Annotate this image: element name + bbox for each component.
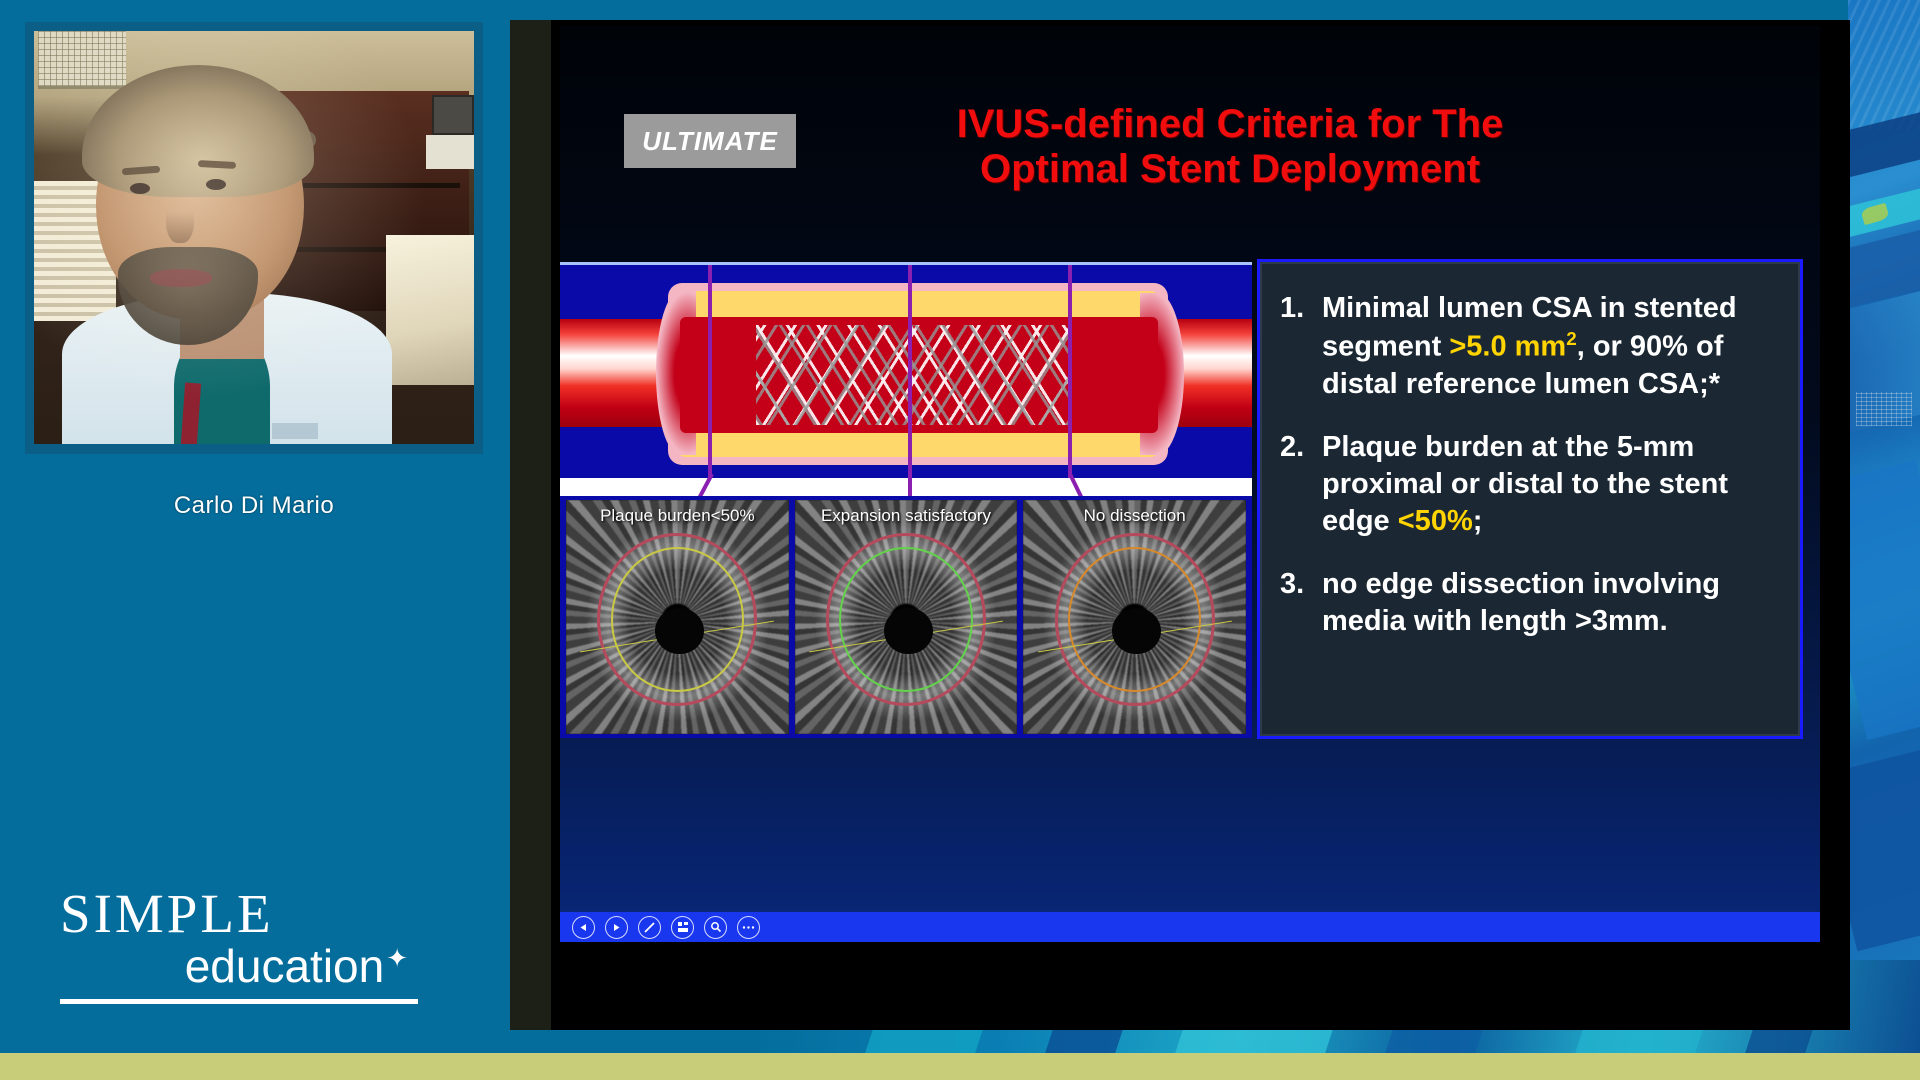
criterion-text-before: no edge dissection involving media with … <box>1322 568 1720 637</box>
criterion-number: 1. <box>1280 290 1322 403</box>
slide-canvas[interactable]: ULTIMATE IVUS-defined Criteria for The O… <box>560 26 1820 936</box>
ultimate-trial-badge: ULTIMATE <box>624 114 796 168</box>
presenter-webcam-panel[interactable] <box>25 22 483 454</box>
ivus-panel: Plaque burden<50% <box>566 500 789 734</box>
triangle-right-icon <box>612 923 621 932</box>
ivus-panel-label: Expansion satisfactory <box>795 506 1018 526</box>
criterion-highlight-superscript: 2 <box>1566 328 1576 349</box>
ultimate-badge-label: ULTIMATE <box>642 126 778 157</box>
stent-illustration <box>560 262 1252 478</box>
criterion-text-after: ; <box>1473 505 1483 537</box>
webcam-video <box>34 31 474 444</box>
ellipsis-icon <box>742 925 755 930</box>
criterion-text: Plaque burden at the 5-mm proximal or di… <box>1322 429 1782 540</box>
ivus-panel-label: No dissection <box>1023 506 1246 526</box>
criterion-highlight: <50% <box>1398 505 1473 537</box>
criterion-text: no edge dissection involving media with … <box>1322 566 1782 640</box>
zoom-button[interactable] <box>704 916 727 939</box>
catheter-core <box>884 608 933 655</box>
criterion-item: 3. no edge dissection involving media wi… <box>1280 566 1782 640</box>
slide-layout-button[interactable] <box>671 916 694 939</box>
criterion-text: Minimal lumen CSA in stented segment >5.… <box>1322 290 1782 403</box>
slide-title-line-1: IVUS-defined Criteria for The <box>810 102 1650 147</box>
triangle-left-icon <box>579 923 588 932</box>
ivus-panel-label: Plaque burden<50% <box>566 506 789 526</box>
callout-line-distal <box>1068 265 1072 478</box>
ivus-image-row: Plaque burden<50% Expansion satisfactory… <box>560 496 1252 738</box>
slide-title-line-2: Optimal Stent Deployment <box>810 147 1650 192</box>
ivus-panel: Expansion satisfactory <box>795 500 1018 734</box>
photo-ripple-texture <box>1848 0 1920 130</box>
callout-line-mid <box>908 265 912 478</box>
presentation-viewer: Carlo Di Mario SIMPLE education ✦ ULTIMA… <box>0 0 1920 1080</box>
footer-bar <box>0 1053 1920 1080</box>
slide-title: IVUS-defined Criteria for The Optimal St… <box>810 102 1650 192</box>
criterion-highlight: >5.0 mm <box>1449 331 1566 363</box>
stent-mesh-shadow <box>756 325 1072 425</box>
slide-player-toolbar[interactable] <box>560 912 1820 942</box>
criterion-text-before: Plaque burden at the 5-mm proximal or di… <box>1322 431 1728 537</box>
decorative-photo-strip-right <box>1848 0 1920 1053</box>
photo-speckle-detail <box>1856 392 1912 426</box>
webcam-lighting-glow <box>34 31 474 444</box>
next-slide-button[interactable] <box>605 916 628 939</box>
catheter-core <box>655 608 704 655</box>
previous-slide-button[interactable] <box>572 916 595 939</box>
photo-band <box>1848 460 1920 740</box>
simple-education-logo: SIMPLE education ✦ <box>60 886 440 1004</box>
criterion-item: 1. Minimal lumen CSA in stented segment … <box>1280 290 1782 403</box>
more-options-button[interactable] <box>737 916 760 939</box>
photo-band <box>1848 749 1920 952</box>
criterion-number: 2. <box>1280 429 1322 540</box>
criterion-item: 2. Plaque burden at the 5-mm proximal or… <box>1280 429 1782 540</box>
callout-line-proximal <box>708 265 712 478</box>
logo-word-simple: SIMPLE <box>60 886 440 941</box>
grid-icon <box>677 921 689 933</box>
criteria-list-panel: 1. Minimal lumen CSA in stented segment … <box>1260 262 1800 736</box>
sparkle-icon: ✦ <box>386 945 408 971</box>
presenter-name: Carlo Di Mario <box>25 492 483 520</box>
ivus-panel: No dissection <box>1023 500 1246 734</box>
pen-icon <box>643 921 656 934</box>
logo-education-row: education ✦ <box>60 943 440 989</box>
magnifier-icon <box>710 921 722 933</box>
pen-annotate-button[interactable] <box>638 916 661 939</box>
logo-underline-rule <box>60 999 418 1004</box>
logo-word-education: education <box>185 943 385 989</box>
criterion-number: 3. <box>1280 566 1322 640</box>
